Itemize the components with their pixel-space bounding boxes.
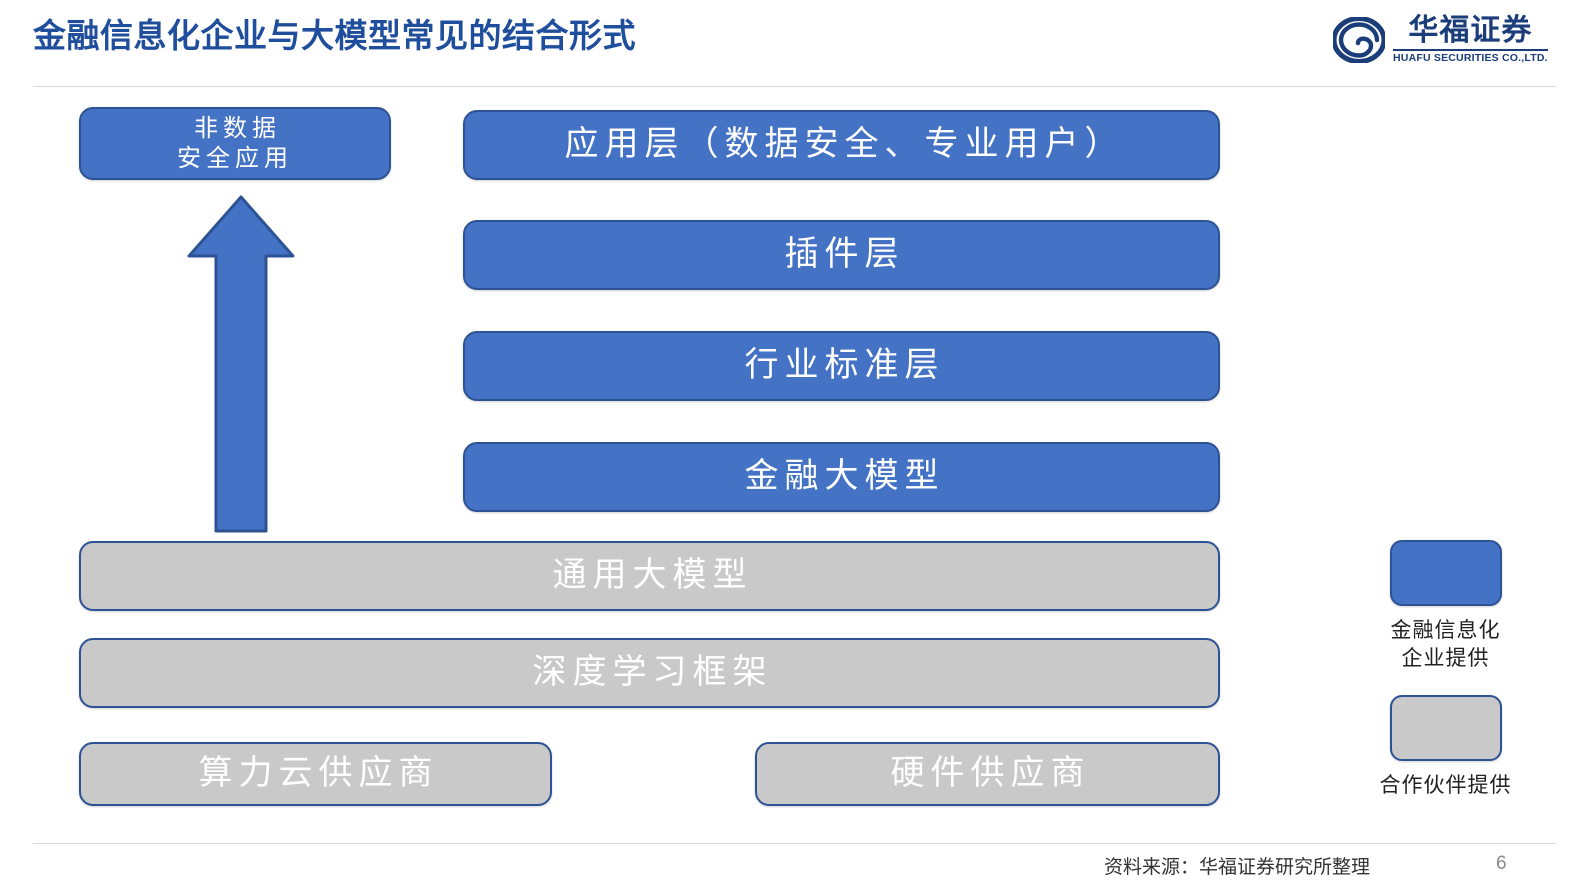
layer-bar-application: 应用层（数据安全、专业用户） — [463, 110, 1220, 180]
source-note: 资料来源：华福证券研究所整理 — [1104, 852, 1370, 879]
layer-bar-financial-llm-label: 金融大模型 — [739, 456, 945, 499]
layer-bar-general-llm-label: 通用大模型 — [547, 555, 753, 598]
logo-chinese-name: 华福证券 — [1408, 16, 1532, 46]
company-logo: 华福证券 HUAFU SECURITIES CO.,LTD. — [1333, 12, 1561, 68]
page-title: 金融信息化企业与大模型常见的结合形式 — [33, 16, 636, 56]
footer-divider — [33, 843, 1556, 844]
layer-bar-plugin-label: 插件层 — [779, 234, 905, 277]
logo-english-name: HUAFU SECURITIES CO.,LTD. — [1393, 53, 1548, 64]
layer-bar-general-llm: 通用大模型 — [79, 541, 1220, 611]
supplier-box-hardware-label: 硬件供应商 — [885, 753, 1091, 796]
layer-bar-industry-standard-label: 行业标准层 — [739, 345, 945, 388]
legend-caption-blue: 金融信息化 企业提供 — [1391, 616, 1501, 673]
supplier-box-hardware: 硬件供应商 — [755, 742, 1220, 806]
legend-caption-gray: 合作伙伴提供 — [1380, 771, 1512, 799]
supplier-box-compute-cloud: 算力云供应商 — [79, 742, 552, 806]
legend-swatch-gray — [1390, 695, 1502, 761]
non-data-security-application-label: 非数据 安全应用 — [177, 114, 293, 174]
logo-divider — [1393, 49, 1548, 51]
header-divider — [33, 86, 1556, 87]
layer-bar-deep-learning-framework-label: 深度学习框架 — [527, 652, 773, 695]
layer-bar-deep-learning-framework: 深度学习框架 — [79, 638, 1220, 708]
page-number: 6 — [1496, 853, 1507, 875]
upward-arrow-icon — [186, 194, 296, 534]
logo-wordmark: 华福证券 HUAFU SECURITIES CO.,LTD. — [1393, 16, 1548, 64]
layer-bar-industry-standard: 行业标准层 — [463, 331, 1220, 401]
layer-bar-plugin: 插件层 — [463, 220, 1220, 290]
layer-bar-application-label: 应用层（数据安全、专业用户） — [559, 124, 1125, 167]
legend-swatch-blue — [1390, 540, 1502, 606]
non-data-security-application-box: 非数据 安全应用 — [79, 107, 391, 180]
legend: 金融信息化 企业提供 合作伙伴提供 — [1338, 540, 1553, 799]
huafu-spiral-icon — [1333, 17, 1385, 63]
supplier-box-compute-cloud-label: 算力云供应商 — [193, 753, 439, 796]
slide: 金融信息化企业与大模型常见的结合形式 华福证券 HUAFU SECURITIES… — [0, 0, 1587, 892]
layer-bar-financial-llm: 金融大模型 — [463, 442, 1220, 512]
